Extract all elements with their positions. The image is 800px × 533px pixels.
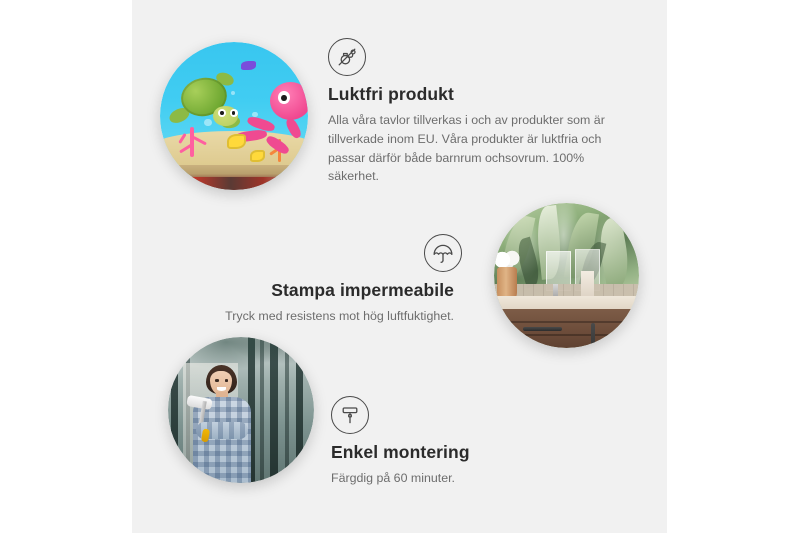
feature-title: Luktfri produkt	[328, 84, 628, 106]
promo-infographic: Luktfri produkt Alla våra tavlor tillver…	[0, 0, 800, 533]
feature-body: Alla våra tavlor tillverkas i och av pro…	[328, 111, 628, 186]
feature-title: Stampa impermeabile	[192, 280, 454, 302]
content-panel: Luktfri produkt Alla våra tavlor tillver…	[132, 0, 667, 533]
no-fragrance-icon	[328, 38, 366, 76]
umbrella-icon	[424, 234, 462, 272]
coral-decor	[175, 119, 213, 157]
feature-body: Färgdig på 60 minuter.	[331, 469, 611, 488]
feature-body: Tryck med resistens mot hög luftfuktighe…	[192, 307, 454, 326]
underwater-cartoon-photo	[160, 42, 308, 190]
paint-roller-icon	[331, 396, 369, 434]
bathroom-botanical-wallpaper-photo	[494, 203, 639, 348]
feature-title: Enkel montering	[331, 442, 611, 464]
woman-paint-roller-forest-photo	[168, 337, 314, 483]
